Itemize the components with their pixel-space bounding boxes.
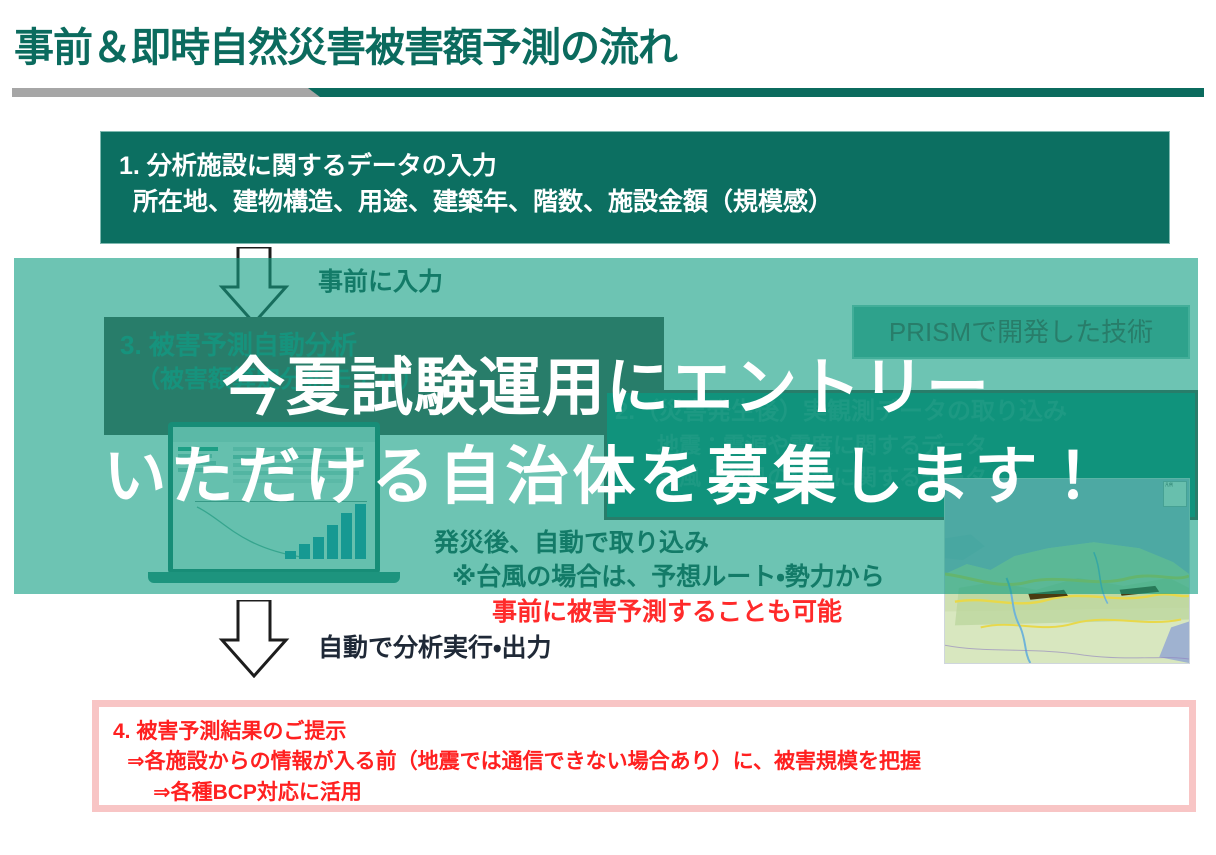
slide-canvas: 事前＆即時自然災害被害額予測の流れ 1. 分析施設に関するデータの入力 所在地、… — [0, 0, 1216, 855]
step-4-box: 4. 被害予測結果のご提示 ⇒各施設からの情報が入る前（地震では通信できない場合… — [92, 700, 1196, 812]
page-title: 事前＆即時自然災害被害額予測の流れ — [14, 26, 677, 70]
title-divider — [12, 85, 1204, 100]
overlay-headline: 今夏試験運用にエントリー いただける自治体を募集します！ — [14, 258, 1198, 594]
overlay-headline-line-2: いただける自治体を募集します！ — [14, 433, 1198, 522]
caption-red-note: 事前に被害予測することも可能 — [492, 592, 842, 628]
step-4-line-1: 4. 被害予測結果のご提示 — [113, 717, 1189, 747]
step-4-line-3: ⇒各種BCP対応に活用 — [113, 778, 1189, 808]
step-1-box: 1. 分析施設に関するデータの入力 所在地、建物構造、用途、建築年、階数、施設金… — [100, 131, 1170, 244]
arrow-down-icon — [216, 600, 292, 678]
step-4-line-2: ⇒各施設からの情報が入る前（地震では通信できない場合あり）に、被害規模を把握 — [113, 747, 1189, 777]
step-1-line-2: 所在地、建物構造、用途、建築年、階数、施設金額（規模感） — [119, 185, 1169, 221]
arrow-2-label: 自動で分析実行・出力 — [318, 628, 552, 664]
step-1-line-1: 1. 分析施設に関するデータの入力 — [119, 149, 1169, 185]
overlay-headline-line-1: 今夏試験運用にエントリー — [14, 344, 1198, 433]
